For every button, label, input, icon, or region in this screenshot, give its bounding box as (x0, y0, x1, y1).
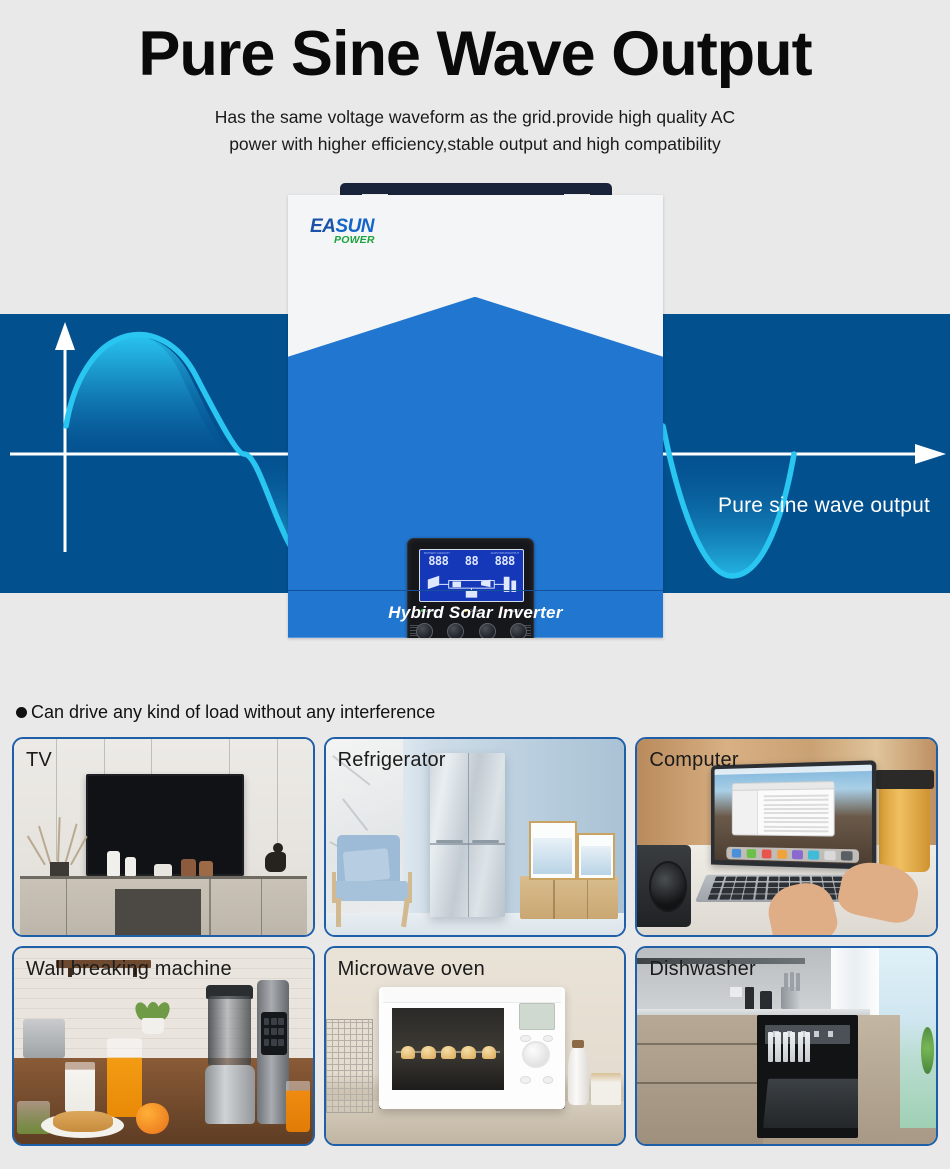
juice-glass (286, 1081, 310, 1132)
oven-display (519, 1003, 555, 1030)
page-header: Pure Sine Wave Output Has the same volta… (0, 0, 950, 157)
page-subtitle: Has the same voltage waveform as the gri… (0, 104, 950, 157)
card-label-refrigerator: Refrigerator (338, 749, 446, 772)
band-caption: Pure sine wave output (718, 494, 930, 518)
brand-logo: EASUN POWER (310, 217, 375, 246)
decor-plant (35, 813, 86, 876)
subtitle-line-1: Has the same voltage waveform as the gri… (0, 104, 950, 130)
logo-text-power: POWER (334, 235, 375, 246)
lcd-segment-right: 888 (495, 554, 515, 568)
oven-control-panel[interactable] (513, 997, 561, 1102)
appliance-card-tv[interactable]: TV (12, 737, 315, 937)
sideboard (520, 876, 619, 919)
card-label-computer: Computer (649, 749, 738, 772)
hero-section: Pure sine wave output EASUN POWER BATTER… (0, 173, 950, 673)
potted-plant (133, 999, 172, 1034)
bullet-dot-icon (16, 707, 27, 718)
file-browser-window (732, 781, 835, 836)
subtitle-line-2: power with higher efficiency,stable outp… (0, 131, 950, 157)
blender-unit (199, 968, 289, 1125)
card-label-dishwasher: Dishwasher (649, 958, 755, 981)
enter-button[interactable] (510, 623, 527, 638)
lcd-display: BATTERY CAPACITY AC/PV INPUT/OUTPUT 888 … (419, 549, 524, 602)
decor-figurine (259, 843, 286, 876)
dishwasher-door[interactable] (763, 1079, 858, 1128)
armchair (329, 835, 416, 927)
storage-box (591, 1073, 621, 1104)
card-label-blender: Wall breaking machine (26, 958, 232, 981)
page-title: Pure Sine Wave Output (0, 22, 950, 86)
appliance-card-grid: TV (12, 737, 938, 1146)
lcd-segment-row: 888 88 888 (420, 552, 523, 570)
dishwasher-unit[interactable] (757, 1015, 859, 1139)
kitchen-cabinets-left (637, 1015, 762, 1144)
cooling-rack (326, 1019, 374, 1113)
up-button[interactable] (447, 623, 464, 638)
button-row (416, 621, 527, 638)
inverter-device: EASUN POWER BATTERY CAPACITY AC/PV INPUT… (288, 183, 663, 658)
feature-bullet-text: Can drive any kind of load without any i… (31, 702, 435, 723)
coffee-cup (879, 778, 930, 872)
inverter-body: EASUN POWER BATTERY CAPACITY AC/PV INPUT… (288, 195, 663, 638)
feature-bullet: Can drive any kind of load without any i… (16, 702, 435, 723)
appliance-card-dishwasher[interactable]: Dishwasher (635, 946, 938, 1146)
esc-button[interactable] (416, 623, 433, 638)
card-label-tv: TV (26, 749, 52, 772)
card-label-microwave: Microwave oven (338, 958, 485, 981)
scene-living-room (14, 739, 313, 935)
juice-carafe (107, 1038, 143, 1116)
waffle-stack (53, 1111, 113, 1133)
appliance-card-refrigerator[interactable]: Refrigerator (324, 737, 627, 937)
oven-dial[interactable] (522, 1041, 550, 1068)
bottle (568, 1046, 589, 1105)
milk-glass (65, 1062, 95, 1113)
inverter-control-panel[interactable]: BATTERY CAPACITY AC/PV INPUT/OUTPUT 888 … (407, 538, 534, 638)
appliance-card-computer[interactable]: Computer (635, 737, 938, 937)
oven-window (389, 1005, 508, 1092)
appliance-card-microwave[interactable]: Microwave oven (324, 946, 627, 1146)
refrigerator-unit (430, 753, 505, 918)
inverter-divider (288, 590, 663, 592)
kettle (23, 1019, 65, 1058)
microwave-oven-unit (379, 987, 564, 1109)
tv-cabinet (20, 876, 307, 935)
framed-art-large (529, 821, 577, 880)
lcd-segment-left: 888 (428, 554, 448, 568)
dslr-camera (637, 845, 691, 927)
down-button[interactable] (479, 623, 496, 638)
logo-text-ea: EA (310, 216, 335, 237)
appliance-card-blender[interactable]: Wall breaking machine (12, 946, 315, 1146)
macos-dock (726, 846, 858, 862)
inverter-model-name: Hybird Solar Inverter (288, 603, 663, 623)
lcd-segment-center: 88 (465, 554, 478, 568)
dish-basket (767, 1032, 820, 1062)
framed-art-small (577, 833, 616, 880)
lcd-flow-diagram (424, 572, 519, 599)
